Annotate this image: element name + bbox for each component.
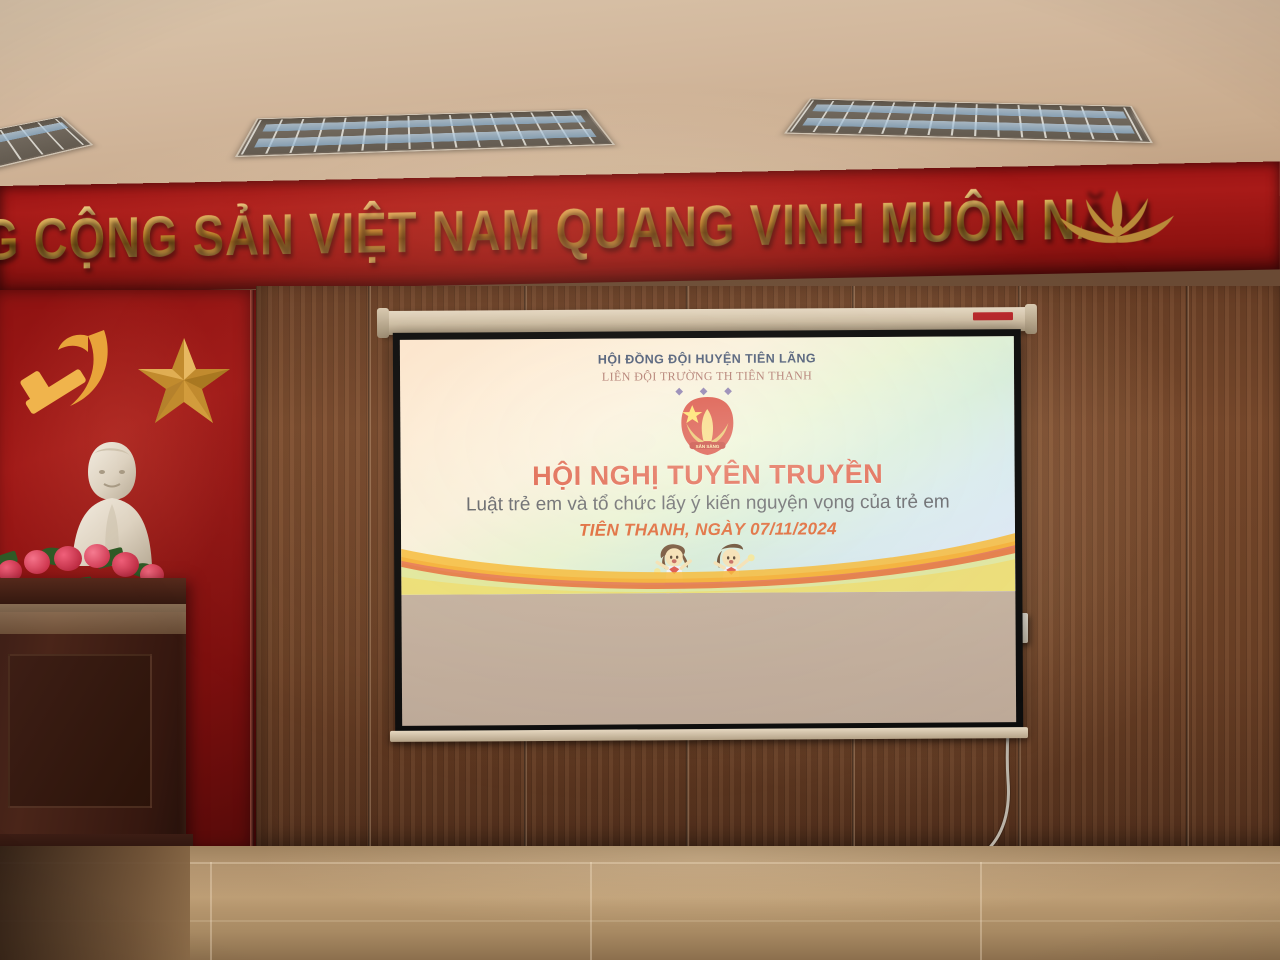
- banner-slogan-text: G CỘNG SẢN VIỆT NAM QUANG VINH MUÔN NĂM: [0, 185, 1082, 273]
- slide-org-line-1: HỘI ĐỒNG ĐỘI HUYỆN TIÊN LÃNG: [400, 350, 1014, 368]
- slide-subtitle: Luật trẻ em và tổ chức lấy ý kiến nguyện…: [401, 491, 1015, 517]
- hammer-and-sickle-icon: [18, 322, 126, 428]
- floor-grout-line: [590, 862, 592, 960]
- red-slogan-banner: G CỘNG SẢN VIỆT NAM QUANG VINH MUÔN NĂM: [0, 161, 1280, 294]
- roller-brand-label: [973, 312, 1013, 320]
- emblem-motto-text: SẴN SÀNG: [696, 443, 720, 449]
- slide-ribbon-decoration: [401, 529, 1015, 595]
- screen-surface: HỘI ĐỒNG ĐỘI HUYỆN TIÊN LÃNG LIÊN ĐỘI TR…: [400, 336, 1016, 726]
- floor-shadow-left: [0, 846, 190, 960]
- floor-grout-line: [0, 920, 1280, 922]
- slide-org-line-2: LIÊN ĐỘI TRƯỜNG TH TIÊN THANH: [400, 367, 1014, 386]
- tiled-floor: [0, 846, 1280, 960]
- wood-seam: [368, 286, 371, 852]
- slide-title: HỘI NGHỊ TUYÊN TRUYỀN: [401, 458, 1015, 493]
- panel-seam: [250, 290, 254, 850]
- roller-end-cap-right: [1025, 304, 1037, 334]
- conference-hall-photo: G CỘNG SẢN VIỆT NAM QUANG VINH MUÔN NĂM: [0, 0, 1280, 960]
- gold-star-icon: [138, 336, 230, 426]
- young-pioneer-emblem-icon: SẴN SÀNG: [679, 395, 735, 457]
- projection-screen: HỘI ĐỒNG ĐỘI HUYỆN TIÊN LÃNG LIÊN ĐỘI TR…: [393, 329, 1023, 733]
- roller-end-cap-left: [377, 308, 389, 338]
- wood-seam: [1186, 286, 1189, 852]
- floor-grout-line: [0, 862, 1280, 864]
- floor-grout-line: [980, 862, 982, 960]
- floor-grout-line: [210, 862, 212, 960]
- lotus-emblem-icon: [1042, 185, 1192, 250]
- pedestal-recessed-panel: [8, 654, 152, 808]
- projected-slide: HỘI ĐỒNG ĐỘI HUYỆN TIÊN LÃNG LIÊN ĐỘI TR…: [400, 336, 1016, 595]
